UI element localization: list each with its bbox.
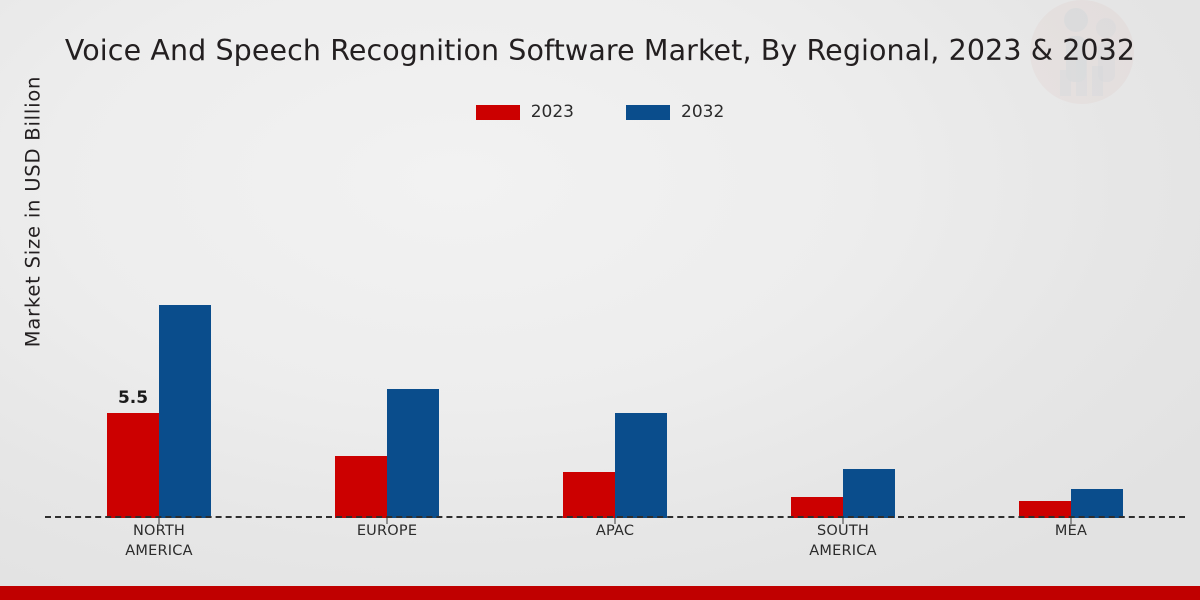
bar-2023-europe[interactable] [335, 456, 387, 518]
bar-group-europe [273, 150, 501, 518]
x-label-line: EUROPE [273, 522, 501, 542]
plot-area: 5.5 [45, 150, 1185, 518]
legend-swatch-2032 [626, 105, 670, 120]
bar-group-apac [501, 150, 729, 518]
x-label-europe: EUROPE [273, 522, 501, 561]
bar-2023-apac[interactable] [563, 472, 615, 518]
x-label-line: APAC [501, 522, 729, 542]
chart-legend: 2023 2032 [0, 104, 1200, 121]
x-label-mea: MEA [957, 522, 1185, 561]
legend-label-2032: 2032 [681, 104, 724, 121]
bar-2023-north-america[interactable]: 5.5 [107, 413, 159, 518]
bar-group-north-america: 5.5 [45, 150, 273, 518]
legend-swatch-2023 [476, 105, 520, 120]
chart-container: Voice And Speech Recognition Software Ma… [0, 0, 1200, 600]
bar-2032-south-america[interactable] [843, 469, 895, 518]
bar-value-label-north-america-2023: 5.5 [118, 388, 148, 408]
legend-item-2023[interactable]: 2023 [476, 104, 574, 121]
x-axis-baseline [45, 516, 1185, 518]
bar-2032-apac[interactable] [615, 413, 667, 518]
x-label-line: MEA [957, 522, 1185, 542]
x-label-apac: APAC [501, 522, 729, 561]
y-axis-title: Market Size in USD Billion [22, 27, 45, 397]
x-label-north-america: NORTH AMERICA [45, 522, 273, 561]
legend-item-2032[interactable]: 2032 [626, 104, 724, 121]
bar-groups: 5.5 [45, 150, 1185, 518]
footer-accent-bar [0, 586, 1200, 600]
legend-label-2023: 2023 [531, 104, 574, 121]
bar-2032-mea[interactable] [1071, 489, 1123, 518]
x-label-line: NORTH [45, 522, 273, 542]
bar-group-south-america [729, 150, 957, 518]
x-label-line: SOUTH [729, 522, 957, 542]
x-label-south-america: SOUTH AMERICA [729, 522, 957, 561]
chart-title: Voice And Speech Recognition Software Ma… [0, 34, 1200, 67]
bar-2032-europe[interactable] [387, 389, 439, 518]
x-label-line: AMERICA [729, 542, 957, 562]
x-axis-category-labels: NORTH AMERICA EUROPE APAC SOUTH AMERICA … [45, 522, 1185, 561]
x-label-line: AMERICA [45, 542, 273, 562]
bar-2032-north-america[interactable] [159, 305, 211, 518]
bar-group-mea [957, 150, 1185, 518]
bar-2023-south-america[interactable] [791, 497, 843, 518]
